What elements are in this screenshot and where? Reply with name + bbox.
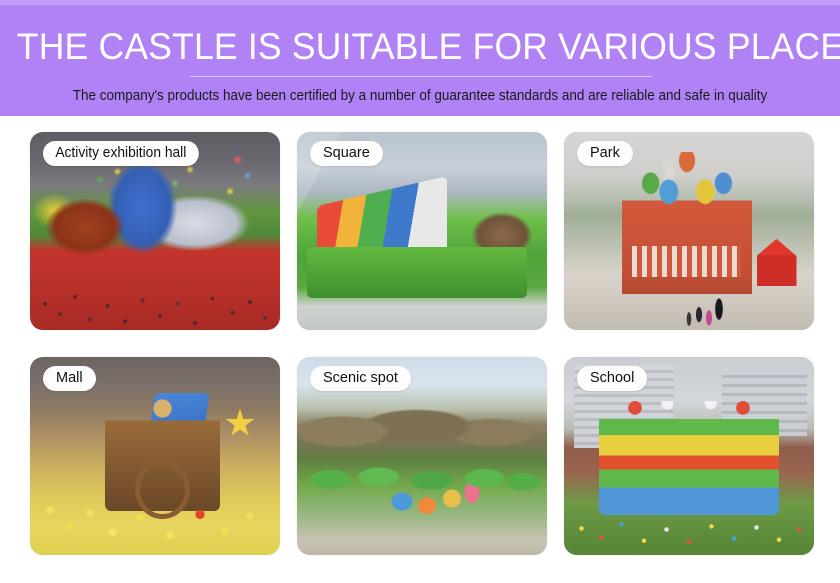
title-divider: [190, 76, 652, 77]
page-title: THE CASTLE IS SUITABLE FOR VARIOUS PLACE…: [17, 24, 823, 70]
star-decor-icon: [225, 408, 255, 438]
place-card-label: Park: [577, 141, 633, 166]
rocky-hills-detail: [297, 401, 547, 452]
place-card-label: Activity exhibition hall: [43, 141, 199, 166]
inflatable-cathedral-detail: [622, 152, 752, 295]
bouncy-castle-detail: [599, 401, 779, 516]
header-banner: THE CASTLE IS SUITABLE FOR VARIOUS PLACE…: [0, 0, 840, 116]
colored-balls-detail: [564, 504, 814, 555]
place-card-label: Scenic spot: [310, 366, 411, 391]
ball-pit-detail: [30, 480, 280, 555]
promo-banner-page: THE CASTLE IS SUITABLE FOR VARIOUS PLACE…: [0, 0, 840, 583]
place-card-school[interactable]: School: [564, 357, 814, 555]
place-card-square[interactable]: Square: [297, 132, 547, 330]
page-subtitle: The company's products have been certifi…: [29, 86, 810, 106]
place-card-mall[interactable]: Mall: [30, 357, 280, 555]
place-card-label: Square: [310, 141, 383, 166]
place-card-label: Mall: [43, 366, 96, 391]
place-card-label: School: [577, 366, 647, 391]
place-card-scenic-spot[interactable]: Scenic spot: [297, 357, 547, 555]
place-card-park[interactable]: Park: [564, 132, 814, 330]
banner-top-strip: [0, 0, 840, 5]
place-card-activity-exhibition-hall[interactable]: Activity exhibition hall: [30, 132, 280, 330]
visitors-detail: [564, 275, 814, 330]
tree-canopy-detail: [302, 464, 542, 523]
crowd-detail: [30, 243, 280, 330]
inflatable-base-detail: [307, 247, 527, 298]
place-gallery-grid: Activity exhibition hall Square Park: [30, 132, 814, 558]
